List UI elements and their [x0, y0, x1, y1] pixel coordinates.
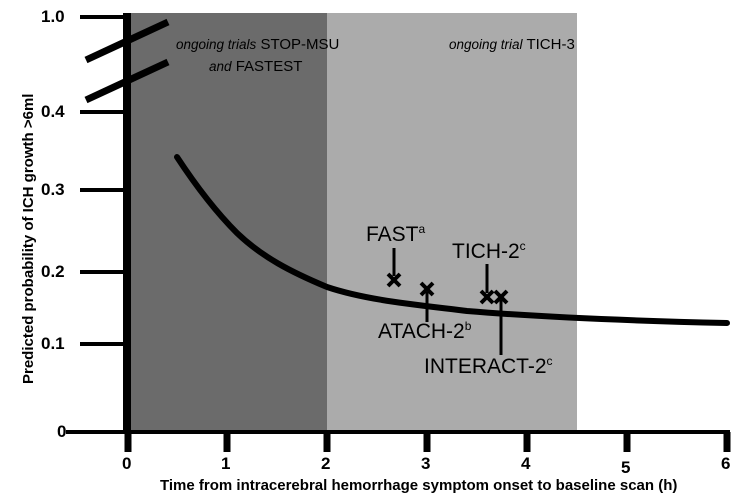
annotation-ongoing-trials-text: ongoing trials	[176, 37, 256, 52]
annotation-stop-msu-fastest-line2: and FASTEST	[209, 59, 302, 74]
point-label-fast: FASTa	[366, 223, 425, 245]
annotation-fastest-name: FASTEST	[236, 58, 303, 75]
annotation-and-text: and	[209, 59, 232, 74]
annotation-stop-msu-fastest-line1: ongoing trials STOP-MSU	[176, 37, 339, 52]
y-tick-label-0-4: 0.4	[41, 103, 65, 120]
x-tick-label-0: 0	[122, 455, 131, 472]
y-axis-title: Predicted probability of ICH growth >6ml	[20, 94, 37, 384]
y-tick-label-0: 0	[57, 423, 66, 440]
annotation-tich-3: ongoing trial TICH-3	[449, 37, 575, 52]
point-label-interact-2: INTERACT-2c	[424, 355, 553, 377]
point-label-interact-2-text: INTERACT-2	[424, 355, 547, 378]
annotation-stop-msu-name: STOP-MSU	[260, 36, 339, 53]
point-label-fast-footnote: a	[419, 222, 426, 236]
x-tick-label-3: 3	[421, 455, 430, 472]
x-tick-label-6: 6	[721, 455, 730, 472]
x-tick-label-4: 4	[521, 455, 530, 472]
point-label-atach-2-text: ATACH-2	[378, 320, 465, 343]
y-tick-label-0-1: 0.1	[41, 335, 65, 352]
point-label-tich-2: TICH-2c	[452, 240, 526, 262]
annotation-ongoing-trial-text: ongoing trial	[449, 37, 523, 52]
x-tick-label-2: 2	[321, 455, 330, 472]
annotation-tich-3-name: TICH-3	[526, 36, 574, 53]
point-label-tich-2-footnote: c	[520, 239, 526, 253]
x-axis-title: Time from intracerebral hemorrhage sympt…	[160, 478, 677, 493]
point-label-tich-2-text: TICH-2	[452, 240, 520, 263]
point-label-interact-2-footnote: c	[547, 354, 553, 368]
point-label-atach-2-footnote: b	[465, 319, 472, 333]
y-tick-label-0-2: 0.2	[41, 263, 65, 280]
x-axis-ticks	[128, 432, 727, 452]
y-tick-label-1-0: 1.0	[41, 8, 65, 25]
point-label-fast-text: FAST	[366, 223, 419, 246]
y-tick-label-0-3: 0.3	[41, 181, 65, 198]
chart-plot-area	[0, 0, 744, 502]
x-tick-label-1: 1	[221, 455, 230, 472]
chart-figure: 1.0 0.4 0.3 0.2 0.1 0 0 1 2 3 4 5 6 Pred…	[0, 0, 744, 502]
point-label-atach-2: ATACH-2b	[378, 320, 471, 342]
x-tick-label-5: 5	[621, 459, 630, 476]
